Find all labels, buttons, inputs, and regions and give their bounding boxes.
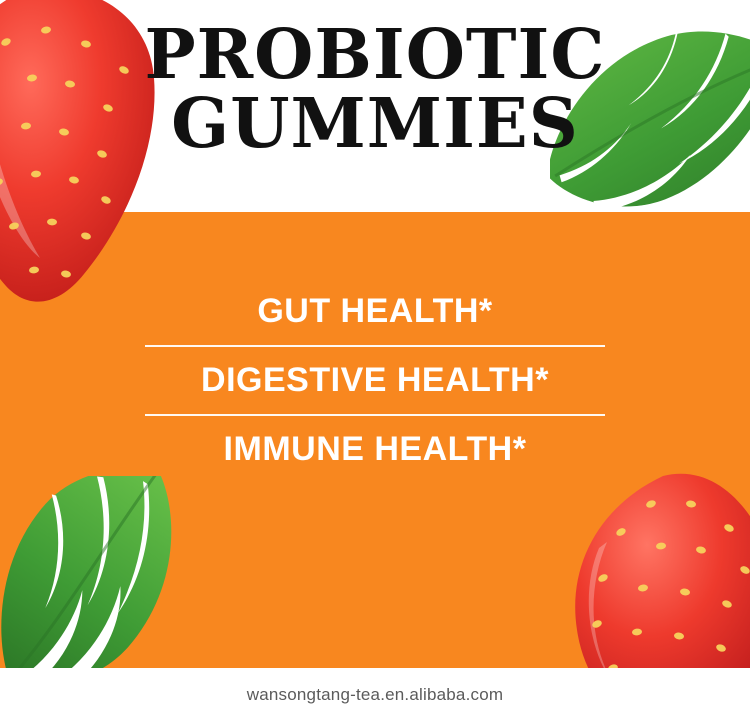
benefit-divider-1 [145, 345, 605, 347]
benefits-list: GUT HEALTH* DIGESTIVE HEALTH* IMMUNE HEA… [115, 278, 635, 483]
store-url-text: wansongtang-tea.en.alibaba.com [247, 685, 503, 705]
benefit-item-immune-health: IMMUNE HEALTH* [115, 416, 635, 483]
benefit-divider-2 [145, 414, 605, 416]
footer-bar: wansongtang-tea.en.alibaba.com [0, 668, 750, 721]
benefit-item-gut-health: GUT HEALTH* [115, 278, 635, 345]
benefit-item-digestive-health: DIGESTIVE HEALTH* [115, 347, 635, 414]
product-poster: PROBIOTIC GUMMIES GUT HEALTH* DIGESTIVE … [0, 0, 750, 721]
strawberry-top-left-image [0, 0, 169, 316]
monstera-leaf-bottom-left-icon [0, 476, 199, 681]
monstera-leaf-top-right-icon [550, 6, 750, 231]
